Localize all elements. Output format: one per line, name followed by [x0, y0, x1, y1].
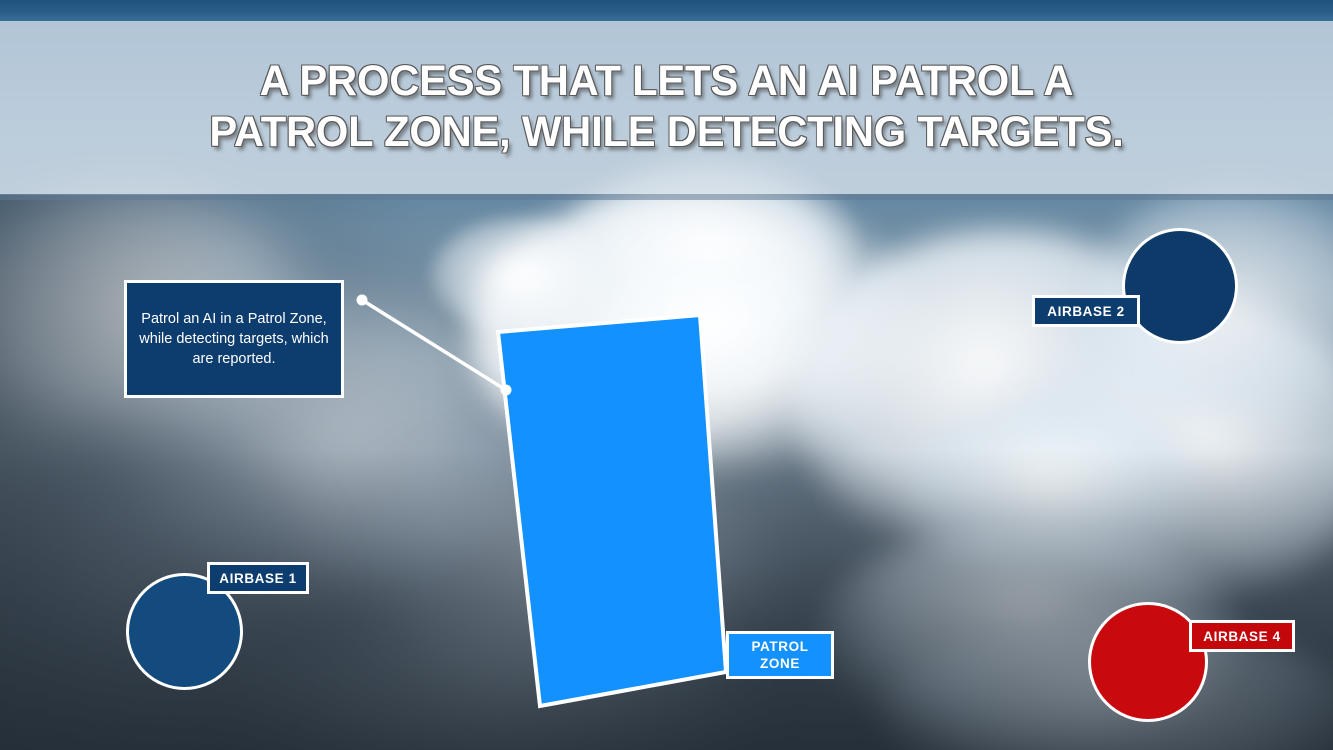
- patrol-zone-label-line-2: ZONE: [751, 655, 808, 672]
- description-callout[interactable]: Patrol an AI in a Patrol Zone, while det…: [124, 280, 344, 398]
- patrol-zone-label[interactable]: PATROL ZONE: [726, 631, 834, 679]
- slide-canvas: A PROCESS THAT LETS AN AI PATROL A PATRO…: [0, 0, 1333, 750]
- airbase-1-label[interactable]: AIRBASE 1: [207, 562, 309, 594]
- airbase-1-label-text: AIRBASE 1: [219, 571, 296, 586]
- connector-endpoint-dot: [357, 295, 368, 306]
- airbase-2-label-text: AIRBASE 2: [1047, 304, 1124, 319]
- description-text: Patrol an AI in a Patrol Zone, while det…: [137, 309, 331, 369]
- connector-endpoint-dot: [501, 385, 512, 396]
- patrol-zone-label-line-1: PATROL: [751, 638, 808, 655]
- connector-line: [362, 300, 506, 390]
- airbase-2-label[interactable]: AIRBASE 2: [1032, 295, 1140, 327]
- airbase-4-label-text: AIRBASE 4: [1203, 629, 1280, 644]
- airbase-4-label[interactable]: AIRBASE 4: [1189, 620, 1295, 652]
- patrol-zone-polygon[interactable]: [498, 315, 726, 706]
